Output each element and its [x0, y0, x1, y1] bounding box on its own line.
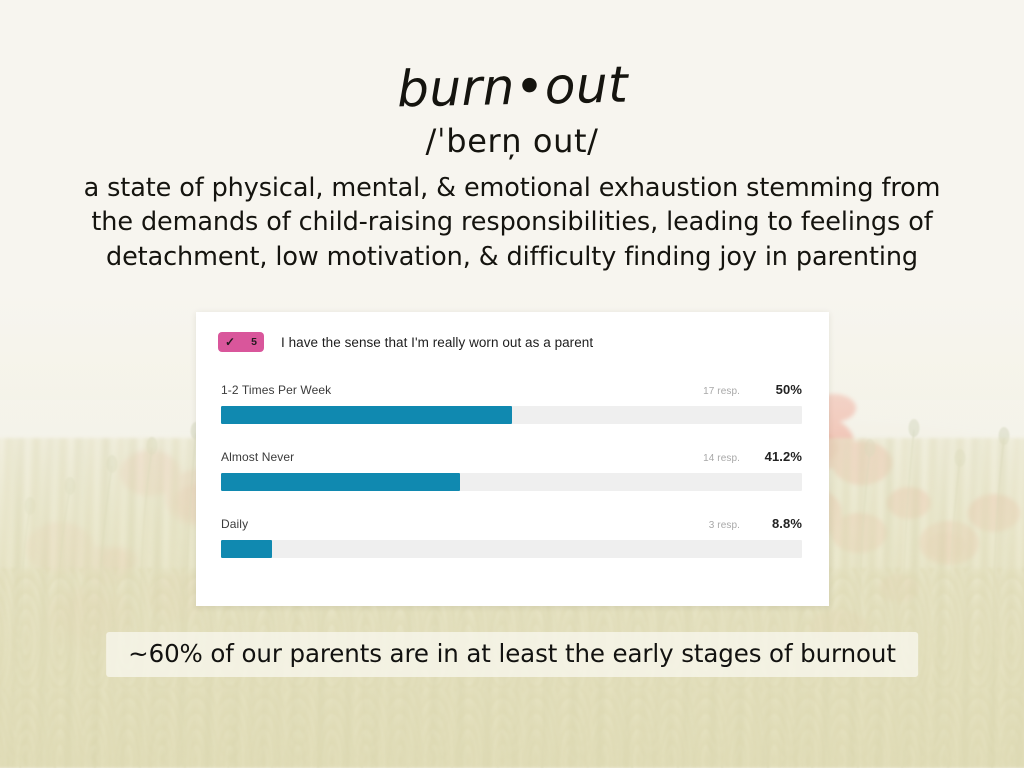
survey-result-card: ✓ 5 I have the sense that I'm really wor…	[196, 312, 829, 606]
bar-response-count: 17 resp.	[703, 386, 740, 397]
card-header: ✓ 5 I have the sense that I'm really wor…	[196, 312, 829, 352]
bar-values: 14 resp. 41.2%	[703, 449, 802, 464]
bar-track	[221, 473, 802, 491]
question-text: I have the sense that I'm really worn ou…	[281, 335, 593, 350]
bar-fill	[221, 473, 460, 491]
bar-values: 3 resp. 8.8%	[709, 516, 802, 531]
bar-row: Daily 3 resp. 8.8%	[221, 516, 802, 558]
bar-percentage: 8.8%	[762, 516, 802, 531]
bar-meta: 1-2 Times Per Week 17 resp. 50%	[221, 382, 802, 397]
bar-chart: 1-2 Times Per Week 17 resp. 50% Almost N…	[196, 352, 829, 558]
check-icon: ✓	[225, 336, 235, 348]
page-title: burn•out	[0, 0, 1024, 123]
definition-text: a state of physical, mental, & emotional…	[62, 171, 962, 273]
pronunciation-text: /ˈberņ out/	[0, 124, 1024, 159]
bar-response-count: 14 resp.	[703, 453, 740, 464]
bar-fill	[221, 406, 512, 424]
bar-label: 1-2 Times Per Week	[221, 383, 331, 397]
bar-row: 1-2 Times Per Week 17 resp. 50%	[221, 382, 802, 424]
question-number-badge: ✓ 5	[218, 332, 264, 352]
bar-response-count: 3 resp.	[709, 520, 740, 531]
summary-caption: ~60% of our parents are in at least the …	[106, 632, 918, 677]
bar-values: 17 resp. 50%	[703, 382, 802, 397]
bar-label: Daily	[221, 517, 248, 531]
slide-root: burn•out /ˈberņ out/ a state of physica…	[0, 0, 1024, 768]
bar-fill	[221, 540, 272, 558]
bar-label: Almost Never	[221, 450, 294, 464]
bar-meta: Daily 3 resp. 8.8%	[221, 516, 802, 531]
bar-meta: Almost Never 14 resp. 41.2%	[221, 449, 802, 464]
bar-row: Almost Never 14 resp. 41.2%	[221, 449, 802, 491]
bar-percentage: 50%	[762, 382, 802, 397]
bar-track	[221, 406, 802, 424]
question-number: 5	[251, 337, 257, 348]
headline-block: burn•out /ˈberņ out/ a state of physica…	[0, 0, 1024, 274]
bar-track	[221, 540, 802, 558]
bar-percentage: 41.2%	[762, 449, 802, 464]
